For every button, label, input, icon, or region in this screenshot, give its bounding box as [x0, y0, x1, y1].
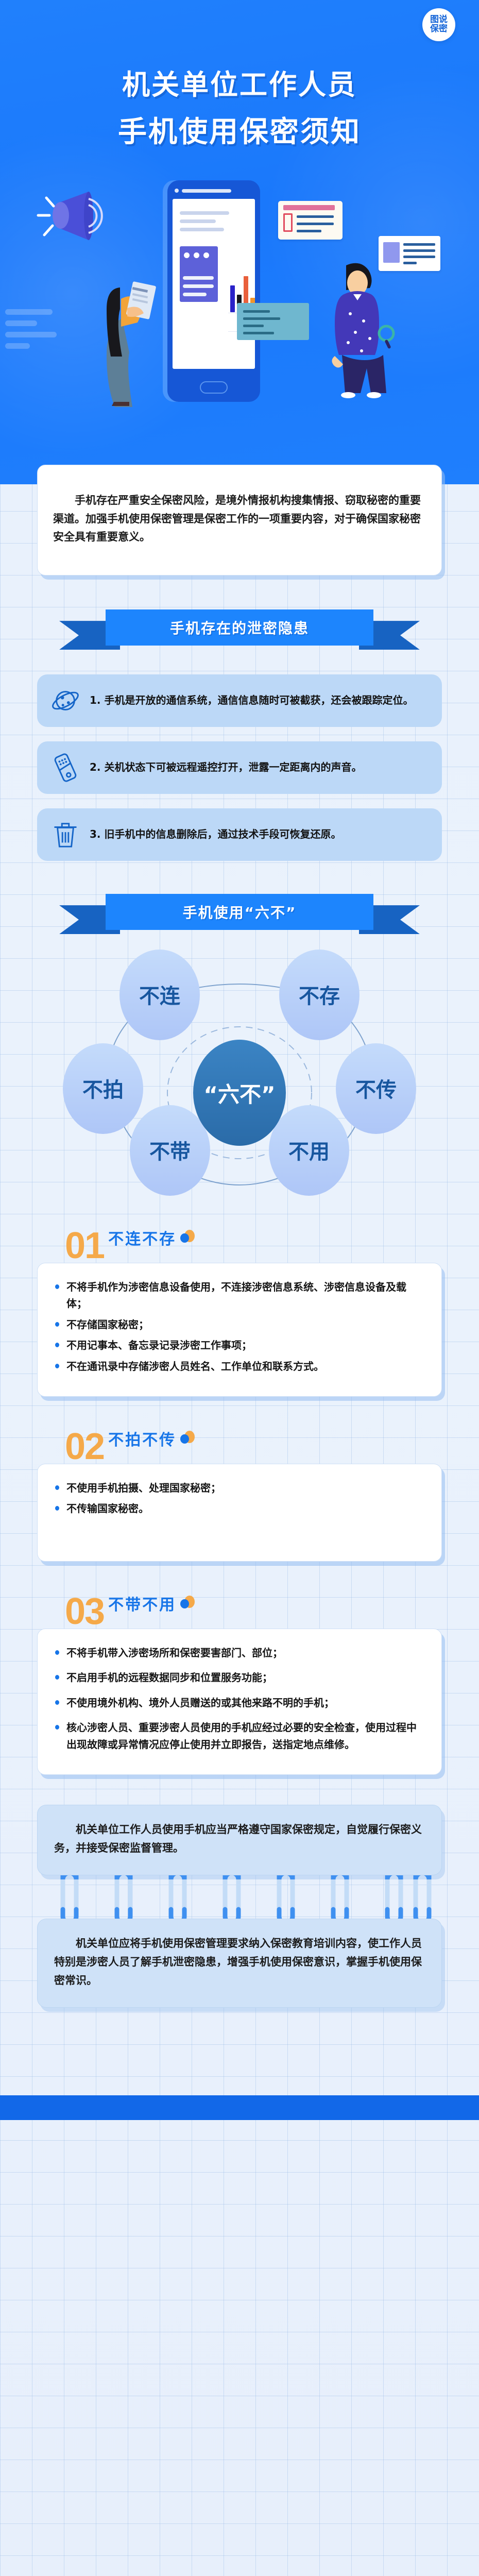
- hazard-item: 3. 旧手机中的信息删除后，通过技术手段可恢复还原。: [37, 808, 442, 861]
- page-title-line-1: 机关单位工作人员: [0, 62, 479, 103]
- rule-number: 03: [65, 1593, 104, 1630]
- six-no-node-label: 不用: [288, 1140, 330, 1164]
- hazard-list: 1. 手机是开放的通信系统，通信信息随时可被截获，还会被跟踪定位。 2. 关机状…: [0, 674, 479, 861]
- broken-phone-icon: [50, 753, 80, 783]
- intro-paragraph: 手机存在严重安全保密风险，是境外情报机构搜集情报、窃取秘密的重要渠道。加强手机使…: [53, 492, 426, 547]
- phone-screen: [173, 199, 255, 369]
- rule-heading: 02 不拍不传: [37, 1423, 442, 1464]
- six-no-banner-label: 手机使用“六不”: [183, 902, 297, 922]
- badge-line-2: 保密: [430, 25, 448, 34]
- hazard-item: 2. 关机状态下可被远程遥控打开，泄露一定距离内的声音。: [37, 741, 442, 794]
- rule-bullet: 不使用手机拍摄、处理国家秘密；: [53, 1480, 426, 1496]
- rule-bullet: 不存储国家秘密；: [53, 1316, 426, 1333]
- rule-card: 不将手机作为涉密信息设备使用，不连接涉密信息系统、涉密信息设备及载体； 不存储国…: [37, 1263, 442, 1397]
- rule-bullet: 不将手机作为涉密信息设备使用，不连接涉密信息系统、涉密信息设备及载体；: [53, 1279, 426, 1312]
- six-no-center-label: “六不”: [203, 1082, 275, 1107]
- rule-heading: 01 不连不存: [37, 1223, 442, 1263]
- six-no-node-label: 不拍: [82, 1078, 124, 1102]
- megaphone-icon: [31, 191, 108, 252]
- chat-bubble-document: [278, 201, 343, 240]
- rule-title: 不连不存: [108, 1226, 176, 1249]
- six-no-diagram: 不连 不存 不拍 不传 不带 不用 “六不”: [0, 938, 479, 1196]
- infographic-page: 图说 保密 机关单位工作人员 手机使用保密须知: [0, 0, 479, 2576]
- rule-bullet: 核心涉密人员、重要涉密人员使用的手机应经过必要的安全检查，使用过程中出现故障或异…: [53, 1719, 426, 1753]
- closing-paragraph: 机关单位应将手机使用保密管理要求纳入保密教育培训内容，使工作人员特别是涉密人员了…: [54, 1935, 425, 1990]
- closing-card-1: 机关单位工作人员使用手机应当严格遵守国家保密规定，自觉履行保密义务，并接受保密监…: [37, 1805, 442, 1875]
- hero-section: 图说 保密 机关单位工作人员 手机使用保密须知: [0, 0, 479, 484]
- tushuo-baomi-badge: 图说 保密: [422, 8, 455, 41]
- rule-bullet: 不启用手机的远程数据同步和位置服务功能；: [53, 1669, 426, 1686]
- six-no-node-label: 不传: [355, 1078, 397, 1102]
- rule-title: 不拍不传: [108, 1427, 176, 1450]
- closing-wrapper-2: 机关单位应将手机使用保密管理要求纳入保密教育培训内容，使工作人员特别是涉密人员了…: [0, 1919, 479, 2008]
- hazard-banner-label: 手机存在的泄密隐患: [170, 617, 309, 638]
- hazard-item: 1. 手机是开放的通信系统，通信信息随时可被截获，还会被跟踪定位。: [37, 674, 442, 727]
- hero-illustration: [0, 170, 479, 459]
- hero-title-group: 机关单位工作人员 手机使用保密须知: [0, 62, 479, 150]
- rule-bullet: 不用记事本、备忘录记录涉密工作事项；: [53, 1337, 426, 1353]
- closing-wrapper-1: 机关单位工作人员使用手机应当严格遵守国家保密规定，自觉履行保密义务，并接受保密监…: [0, 1805, 479, 1875]
- phone-camera-dot: [175, 189, 179, 193]
- closing-card-2: 机关单位应将手机使用保密管理要求纳入保密教育培训内容，使工作人员特别是涉密人员了…: [37, 1919, 442, 2008]
- hazard-section-banner: 手机存在的泄密隐患: [106, 609, 373, 646]
- phone-home-button: [200, 381, 228, 394]
- rule-bullet-list: 不将手机作为涉密信息设备使用，不连接涉密信息系统、涉密信息设备及载体； 不存储国…: [53, 1279, 426, 1375]
- decorative-dot-pair: [180, 1431, 196, 1444]
- decorative-dot-pair: [180, 1230, 196, 1243]
- rule-card: 不将手机带入涉密场所和保密要害部门、部位； 不启用手机的远程数据同步和位置服务功…: [37, 1629, 442, 1775]
- ribbon-plate: 手机使用“六不”: [106, 894, 373, 930]
- intro-wrapper: 手机存在严重安全保密风险，是境外情报机构搜集情报、窃取秘密的重要渠道。加强手机使…: [0, 465, 479, 575]
- page-title-line-2: 手机使用保密须知: [0, 109, 479, 150]
- decorative-dot-pair: [180, 1596, 196, 1609]
- chat-bubble-teal: [237, 303, 309, 340]
- six-no-node-label: 不连: [139, 985, 181, 1008]
- footer-band: [0, 2095, 479, 2120]
- rule-section-03: 03 不带不用 不将手机带入涉密场所和保密要害部门、部位； 不启用手机的远程数据…: [0, 1588, 479, 1775]
- rule-bullet-list: 不将手机带入涉密场所和保密要害部门、部位； 不启用手机的远程数据同步和位置服务功…: [53, 1645, 426, 1753]
- rule-heading: 03 不带不用: [37, 1588, 442, 1629]
- ribbon-plate: 手机存在的泄密隐患: [106, 609, 373, 646]
- rule-bullet: 不使用境外机构、境外人员赠送的或其他来路不明的手机；: [53, 1694, 426, 1711]
- satellite-icon: [50, 686, 80, 716]
- person-left-illustration: [95, 278, 162, 407]
- hazard-item-text: 2. 关机状态下可被远程遥控打开，泄露一定距离内的声音。: [90, 759, 362, 776]
- intro-card: 手机存在严重安全保密风险，是境外情报机构搜集情报、窃取秘密的重要渠道。加强手机使…: [37, 465, 442, 575]
- rule-section-01: 01 不连不存 不将手机作为涉密信息设备使用，不连接涉密信息系统、涉密信息设备及…: [0, 1223, 479, 1397]
- closing-paragraph: 机关单位工作人员使用手机应当严格遵守国家保密规定，自觉履行保密义务，并接受保密监…: [54, 1821, 425, 1857]
- rule-number: 02: [65, 1428, 104, 1465]
- rule-number: 01: [65, 1227, 104, 1264]
- rule-title: 不带不用: [108, 1592, 176, 1615]
- phone-mockup: [167, 180, 260, 402]
- hazard-item-text: 3. 旧手机中的信息删除后，通过技术手段可恢复还原。: [90, 826, 341, 843]
- hazard-item-text: 1. 手机是开放的通信系统，通信信息随时可被截获，还会被跟踪定位。: [90, 692, 413, 709]
- trash-icon: [50, 820, 80, 850]
- rule-bullet-list: 不使用手机拍摄、处理国家秘密； 不传输国家秘密。: [53, 1480, 426, 1517]
- six-no-node-label: 不存: [299, 985, 340, 1008]
- rule-bullet: 不传输国家秘密。: [53, 1500, 426, 1517]
- six-no-node-label: 不带: [149, 1140, 191, 1164]
- bottom-spacer: [0, 2008, 479, 2095]
- person-right-illustration: [324, 260, 397, 407]
- phone-speaker: [182, 189, 231, 193]
- rule-section-02: 02 不拍不传 不使用手机拍摄、处理国家秘密； 不传输国家秘密。: [0, 1423, 479, 1562]
- rule-card: 不使用手机拍摄、处理国家秘密； 不传输国家秘密。: [37, 1464, 442, 1562]
- six-no-diagram-svg: 不连 不存 不拍 不传 不带 不用 “六不”: [0, 938, 479, 1196]
- rule-bullet: 不在通讯录中存储涉密人员姓名、工作单位和联系方式。: [53, 1358, 426, 1375]
- six-no-section-banner: 手机使用“六不”: [106, 894, 373, 930]
- rule-bullet: 不将手机带入涉密场所和保密要害部门、部位；: [53, 1645, 426, 1661]
